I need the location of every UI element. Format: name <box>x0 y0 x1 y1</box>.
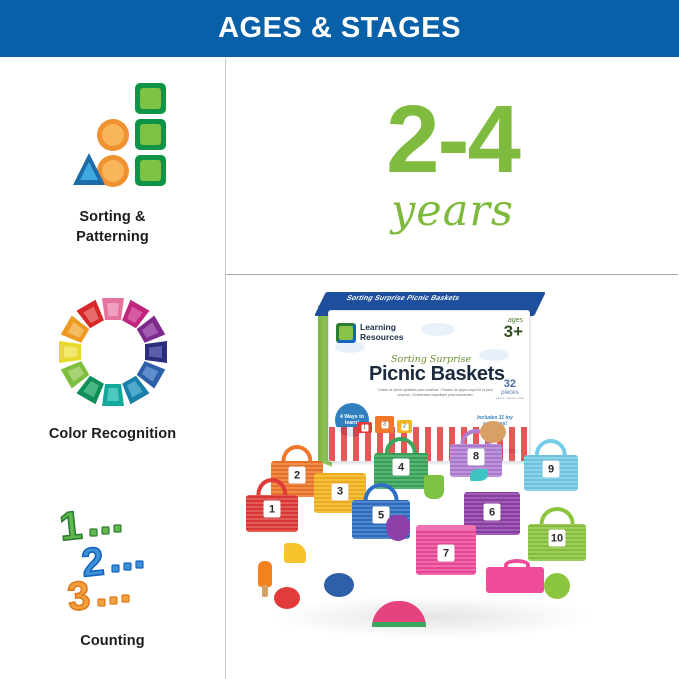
basket-number: 9 <box>543 461 560 478</box>
cheese-wedge-icon <box>284 543 306 563</box>
apple-icon <box>544 573 570 599</box>
cloud-icon <box>479 349 509 361</box>
product-box-top-text: Sorting Surprise Picnic Baskets <box>345 295 461 302</box>
color-wheel-icon <box>55 293 171 411</box>
pieces-badge: 32 pieces pieces • piezas • teile <box>496 379 524 400</box>
grapes-icon <box>386 515 410 541</box>
age-unit: years <box>391 186 514 236</box>
pieces-count: 32 <box>496 379 524 390</box>
basket-number: 7 <box>438 545 455 562</box>
feature-label-color-recognition: Color Recognition <box>49 425 176 445</box>
blueberries-icon <box>324 573 354 597</box>
features-column: Sorting & Patterning <box>0 58 225 679</box>
feature-counting: 1 2 3 <box>0 472 225 679</box>
header-banner: AGES & STAGES <box>0 0 679 57</box>
basket-number: 8 <box>468 448 485 465</box>
ages-value: 3+ <box>504 322 523 341</box>
svg-text:3: 3 <box>65 573 92 615</box>
basket-4: 4 <box>374 439 428 489</box>
feature-label-sorting-patterning: Sorting & Patterning <box>76 208 149 247</box>
age-panel: 2-4 years <box>226 58 679 274</box>
basket-number: 6 <box>484 504 501 521</box>
brand-name-line1: Learning <box>360 322 396 332</box>
basket-handle <box>256 478 287 497</box>
drink-cup-icon <box>424 475 444 499</box>
basket-number: 3 <box>332 483 349 500</box>
shapes-sorting-icon <box>53 76 173 194</box>
numbers-counting-icon: 1 2 3 <box>50 500 176 618</box>
cloud-icon <box>421 323 455 336</box>
feature-color-recognition: Color Recognition <box>0 265 225 472</box>
popsicle-icon <box>258 561 272 587</box>
pieces-sub-label: pieces • piezas • teile <box>496 396 524 400</box>
basket-number: 4 <box>393 459 410 476</box>
brand-name: Learning Resources <box>360 323 403 342</box>
ages-badge: ages 3+ <box>504 317 523 342</box>
popsicle-stick-icon <box>262 585 268 597</box>
product-description: Cestas de picnic apilables para clasific… <box>375 388 495 398</box>
scene-shadow <box>266 595 596 639</box>
product-photo-panel: Sorting Surprise Picnic Baskets Learning… <box>226 275 679 679</box>
pink-lid-handle-icon <box>504 559 530 571</box>
strawberry-icon <box>274 587 300 609</box>
product-title: Picnic Baskets <box>369 363 505 386</box>
donut-icon <box>480 421 506 443</box>
basket-7: 7 <box>416 525 476 575</box>
feature-label-counting: Counting <box>80 632 144 652</box>
basket-10: 10 <box>528 509 586 561</box>
brand-logo: Learning Resources <box>336 323 403 343</box>
baskets-scene: 2 3 1 4 5 <box>226 425 679 679</box>
basket-number: 1 <box>264 501 281 518</box>
basket-9: 9 <box>524 441 578 491</box>
age-range: 2-4 <box>386 96 519 184</box>
brand-name-line2: Resources <box>360 332 403 342</box>
basket-number: 10 <box>549 530 566 547</box>
feature-sorting-patterning: Sorting & Patterning <box>0 58 225 265</box>
ages-and-stages-infographic: AGES & STAGES <box>0 0 679 679</box>
basket-handle <box>540 507 575 526</box>
page-title: AGES & STAGES <box>218 12 461 45</box>
feature-label-line2: Patterning <box>76 229 149 245</box>
learning-resources-cube-icon <box>336 323 356 343</box>
basket-1: 1 <box>246 480 298 532</box>
feature-label-line1: Sorting & <box>79 209 145 225</box>
bird-icon <box>470 469 488 481</box>
